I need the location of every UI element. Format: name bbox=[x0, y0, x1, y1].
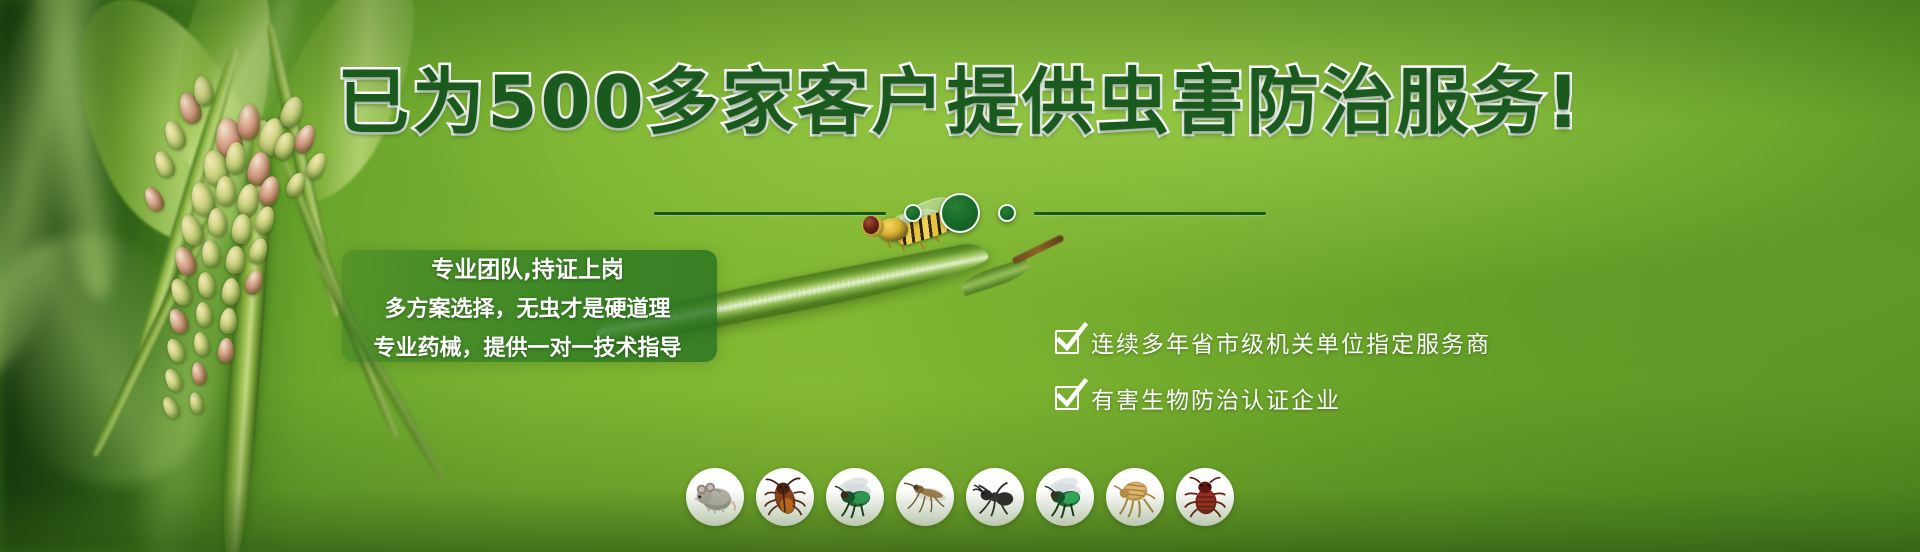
ant-icon bbox=[972, 474, 1018, 520]
selling-point-3: 专业药械，提供一对一技术指导 bbox=[373, 330, 681, 362]
selling-points-box: 专业团队,持证上岗 多方案选择，无虫才是硬道理 专业药械，提供一对一技术指导 bbox=[342, 250, 717, 362]
credential-item: 连续多年省市级机关单位指定服务商 bbox=[1055, 325, 1575, 359]
pest-icon-housefly[interactable] bbox=[826, 468, 884, 526]
credential-item: 有害生物防治认证企业 bbox=[1055, 381, 1575, 415]
checkbox-checked-icon bbox=[1055, 386, 1079, 410]
promo-banner: 已为500多家客户提供虫害防治服务! 专业团队,持证上岗 多方案选择，无虫才是硬… bbox=[0, 0, 1920, 552]
divider-dot-small-right bbox=[998, 204, 1016, 222]
credential-label: 连续多年省市级机关单位指定服务商 bbox=[1091, 325, 1491, 359]
housefly-icon bbox=[832, 474, 878, 520]
pest-icon-flea[interactable] bbox=[1106, 468, 1164, 526]
divider-dot-small-left bbox=[904, 204, 922, 222]
divider-line-right bbox=[1034, 212, 1266, 215]
bedbug-icon bbox=[1182, 474, 1228, 520]
divider-dot-large bbox=[940, 193, 980, 233]
checkbox-checked-icon bbox=[1055, 330, 1079, 354]
divider-line-left bbox=[654, 212, 886, 215]
flea-icon bbox=[1112, 474, 1158, 520]
pest-icon-greenbottle-fly[interactable] bbox=[1036, 468, 1094, 526]
credentials-list: 连续多年省市级机关单位指定服务商 有害生物防治认证企业 bbox=[1055, 325, 1575, 437]
pest-icon-bedbug[interactable] bbox=[1176, 468, 1234, 526]
decorative-divider bbox=[0, 193, 1920, 233]
greenbottle-fly-icon bbox=[1042, 474, 1088, 520]
mouse-icon bbox=[692, 474, 738, 520]
cockroach-icon bbox=[762, 474, 808, 520]
banner-headline-text: 已为500多家客户提供虫害防治服务! bbox=[337, 66, 1582, 138]
credential-label: 有害生物防治认证企业 bbox=[1091, 381, 1341, 415]
banner-headline: 已为500多家客户提供虫害防治服务! bbox=[0, 66, 1920, 138]
pest-type-icons bbox=[0, 468, 1920, 526]
pest-icon-mosquito[interactable] bbox=[896, 468, 954, 526]
selling-point-2: 多方案选择，无虫才是硬道理 bbox=[384, 291, 670, 323]
pest-icon-ant[interactable] bbox=[966, 468, 1024, 526]
mosquito-icon bbox=[902, 474, 948, 520]
selling-point-1: 专业团队,持证上岗 bbox=[431, 250, 624, 284]
pest-icon-cockroach[interactable] bbox=[756, 468, 814, 526]
pest-icon-mouse[interactable] bbox=[686, 468, 744, 526]
